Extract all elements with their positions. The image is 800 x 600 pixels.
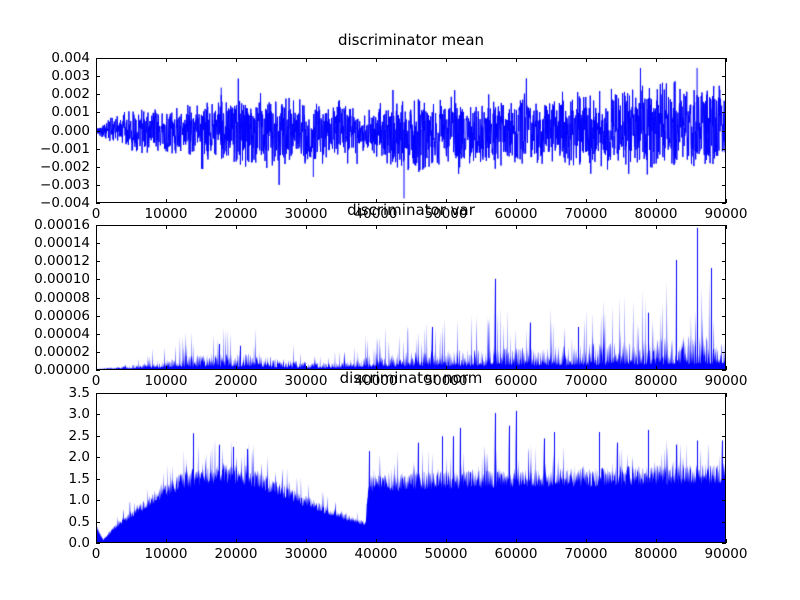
- x-tick-mark: [306, 539, 307, 543]
- y-tick-mark: [722, 457, 726, 458]
- x-tick-mark: [726, 366, 727, 370]
- y-tick-mark: [96, 457, 100, 458]
- y-tick-mark: [96, 112, 100, 113]
- x-tick-mark: [726, 393, 727, 397]
- x-tick-mark: [306, 58, 307, 62]
- plot-canvas-discriminator-mean: [97, 59, 725, 202]
- x-tick-mark: [586, 393, 587, 397]
- x-tick-mark: [656, 539, 657, 543]
- plot-canvas-discriminator-var: [97, 226, 725, 369]
- x-tick-mark: [446, 58, 447, 62]
- x-tick-mark: [376, 58, 377, 62]
- y-tick-label: 0.00002: [4, 345, 90, 359]
- y-tick-mark: [96, 352, 100, 353]
- y-tick-mark: [722, 436, 726, 437]
- x-tick-mark: [446, 393, 447, 397]
- y-tick-mark: [722, 279, 726, 280]
- x-tick-mark: [306, 225, 307, 229]
- y-tick-label: 0.001: [4, 105, 90, 119]
- y-tick-mark: [722, 522, 726, 523]
- y-tick-mark: [96, 479, 100, 480]
- y-tick-label: −0.001: [4, 142, 90, 156]
- x-tick-mark: [376, 393, 377, 397]
- x-tick-mark: [656, 58, 657, 62]
- x-tick-mark: [516, 539, 517, 543]
- x-tick-mark: [236, 225, 237, 229]
- y-tick-mark: [96, 167, 100, 168]
- y-tick-label: 3.5: [4, 386, 90, 400]
- x-tick-mark: [446, 225, 447, 229]
- y-tick-mark: [96, 149, 100, 150]
- x-tick-mark: [516, 393, 517, 397]
- y-tick-label: 0.00012: [4, 254, 90, 268]
- y-tick-label: 0.00006: [4, 309, 90, 323]
- y-tick-label: −0.002: [4, 160, 90, 174]
- x-tick-mark: [446, 539, 447, 543]
- x-tick-mark: [586, 539, 587, 543]
- y-tick-mark: [96, 334, 100, 335]
- subplot-title-discriminator-mean: discriminator mean: [96, 32, 726, 49]
- y-tick-label: 1.0: [4, 493, 90, 507]
- x-tick-mark: [376, 539, 377, 543]
- y-tick-label: 0.00008: [4, 291, 90, 305]
- y-tick-mark: [722, 334, 726, 335]
- y-tick-mark: [722, 479, 726, 480]
- x-tick-mark: [726, 225, 727, 229]
- x-tick-mark: [166, 393, 167, 397]
- y-tick-mark: [96, 500, 100, 501]
- x-tick-mark: [516, 58, 517, 62]
- y-tick-mark: [96, 243, 100, 244]
- y-tick-mark: [722, 112, 726, 113]
- x-tick-mark: [586, 58, 587, 62]
- x-tick-mark: [236, 58, 237, 62]
- x-tick-mark: [96, 393, 97, 397]
- x-tick-mark: [656, 393, 657, 397]
- x-tick-mark: [236, 393, 237, 397]
- y-tick-label: 0.000: [4, 124, 90, 138]
- matplotlib-figure: discriminator mean −0.004−0.003−0.002−0.…: [0, 0, 800, 600]
- y-tick-label: 0.00004: [4, 327, 90, 341]
- y-tick-mark: [96, 76, 100, 77]
- y-tick-mark: [96, 543, 100, 544]
- y-tick-mark: [722, 167, 726, 168]
- y-tick-mark: [96, 261, 100, 262]
- y-tick-mark: [722, 414, 726, 415]
- y-tick-label: 0.004: [4, 51, 90, 65]
- subplot-title-discriminator-norm: discriminator norm: [96, 370, 726, 387]
- y-tick-mark: [722, 149, 726, 150]
- y-tick-mark: [96, 185, 100, 186]
- y-tick-mark: [96, 131, 100, 132]
- y-tick-mark: [96, 279, 100, 280]
- y-tick-label: −0.003: [4, 178, 90, 192]
- x-tick-mark: [656, 225, 657, 229]
- x-tick-mark: [726, 58, 727, 62]
- y-tick-mark: [722, 316, 726, 317]
- y-tick-mark: [722, 185, 726, 186]
- y-tick-mark: [722, 352, 726, 353]
- y-tick-label: 3.0: [4, 407, 90, 421]
- y-tick-mark: [96, 316, 100, 317]
- x-tick-mark: [516, 225, 517, 229]
- y-tick-label: 0.00010: [4, 272, 90, 286]
- y-tick-label: 0.5: [4, 515, 90, 529]
- x-tick-mark: [236, 539, 237, 543]
- y-tick-mark: [722, 261, 726, 262]
- y-tick-label: 0.002: [4, 87, 90, 101]
- y-tick-mark: [96, 436, 100, 437]
- y-tick-label: 0.00016: [4, 218, 90, 232]
- x-tick-label: 90000: [681, 547, 771, 561]
- plot-area-discriminator-var: [96, 225, 726, 370]
- x-tick-mark: [726, 199, 727, 203]
- y-tick-mark: [96, 414, 100, 415]
- y-tick-label: 1.5: [4, 472, 90, 486]
- y-tick-mark: [96, 94, 100, 95]
- x-tick-mark: [96, 225, 97, 229]
- y-tick-mark: [722, 500, 726, 501]
- y-tick-mark: [96, 298, 100, 299]
- x-tick-mark: [166, 539, 167, 543]
- plot-area-discriminator-mean: [96, 58, 726, 203]
- y-tick-label: 2.5: [4, 429, 90, 443]
- y-tick-mark: [722, 243, 726, 244]
- y-tick-label: 0.00014: [4, 236, 90, 250]
- x-tick-mark: [96, 58, 97, 62]
- x-tick-mark: [376, 225, 377, 229]
- plot-canvas-discriminator-norm: [97, 394, 725, 542]
- x-tick-mark: [726, 539, 727, 543]
- y-tick-mark: [722, 76, 726, 77]
- x-tick-mark: [166, 225, 167, 229]
- x-tick-mark: [96, 539, 97, 543]
- subplot-title-discriminator-var: discriminator var: [96, 202, 726, 219]
- x-tick-mark: [166, 58, 167, 62]
- y-tick-mark: [722, 94, 726, 95]
- x-tick-mark: [586, 225, 587, 229]
- y-tick-mark: [722, 131, 726, 132]
- y-tick-mark: [96, 522, 100, 523]
- y-tick-mark: [722, 543, 726, 544]
- y-tick-mark: [722, 298, 726, 299]
- y-tick-label: 0.003: [4, 69, 90, 83]
- x-tick-mark: [306, 393, 307, 397]
- y-tick-label: 2.0: [4, 450, 90, 464]
- plot-area-discriminator-norm: [96, 393, 726, 543]
